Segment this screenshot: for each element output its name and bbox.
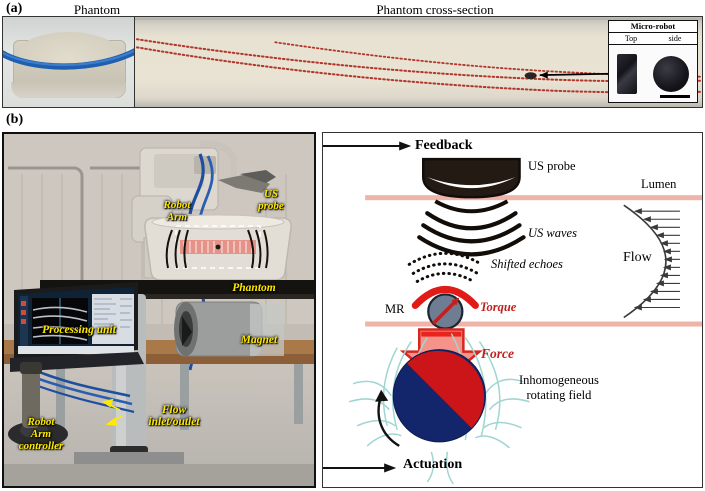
feedback-label: Feedback — [415, 138, 473, 154]
lumen-upper-wall — [365, 195, 702, 200]
us-waves-label: US waves — [528, 226, 577, 241]
annotation-us-probe: US probe — [244, 188, 298, 212]
panel-a: Micro-robot Top side — [2, 16, 703, 108]
scale-bar — [660, 95, 690, 98]
annotation-magnet: Magnet — [224, 334, 294, 346]
micro-robot-inset-title: Micro-robot — [609, 21, 697, 33]
shifted-echoes-icon — [409, 253, 481, 281]
blue-tube-icon — [3, 48, 135, 75]
lumen-lower-wall — [365, 322, 702, 327]
mr-label: MR — [385, 302, 404, 317]
rotating-magnet-icon — [393, 350, 485, 442]
annotation-flow-inlet-outlet: Flow inlet/outlet — [122, 404, 226, 428]
torque-label: Torque — [480, 300, 516, 315]
panel-b-label: (b) — [6, 112, 23, 128]
micro-robot-view-side-label: side — [653, 33, 697, 44]
micro-robot-images — [609, 45, 697, 102]
micro-robot-view-top-label: Top — [609, 33, 653, 44]
us-probe-icon — [423, 159, 519, 211]
actuation-arrow — [323, 463, 396, 472]
feedback-arrow — [323, 142, 411, 151]
annotation-robot-arm-controller: Robot Arm controller — [6, 416, 76, 452]
us-probe-label: US probe — [528, 159, 576, 174]
micro-robot-in-lumen — [525, 72, 537, 79]
micro-robot-inset: Micro-robot Top side — [608, 20, 698, 103]
micro-robot-icon — [428, 294, 462, 328]
petri-dish-photo — [3, 17, 135, 107]
petri-dish-rim — [11, 82, 126, 98]
shifted-echoes-label: Shifted echoes — [491, 257, 563, 272]
working-principle-diagram: Feedback US probe Lumen US waves Shifted… — [322, 132, 703, 488]
phantom-cross-section-photo: Micro-robot Top side — [135, 17, 702, 107]
micro-robot-top-image — [617, 54, 637, 94]
force-label: Force — [481, 346, 514, 362]
annotation-phantom: Phantom — [214, 282, 294, 294]
us-waves-icon — [419, 213, 523, 254]
experimental-setup-photo: US probe Robot Arm Phantom Magnet Proces… — [2, 132, 316, 488]
flow-label: Flow — [623, 250, 652, 266]
inhomogeneous-rotating-field-label: Inhomogeneous rotating field — [519, 373, 599, 403]
actuation-label: Actuation — [403, 457, 462, 473]
panel-a-label: (a) — [6, 1, 22, 17]
annotation-processing-unit: Processing unit — [14, 324, 144, 336]
lumen-label: Lumen — [641, 177, 676, 192]
micro-robot-inset-views: Top side — [609, 33, 697, 45]
micro-robot-side-image — [653, 56, 689, 92]
annotation-robot-arm: Robot Arm — [149, 199, 205, 223]
